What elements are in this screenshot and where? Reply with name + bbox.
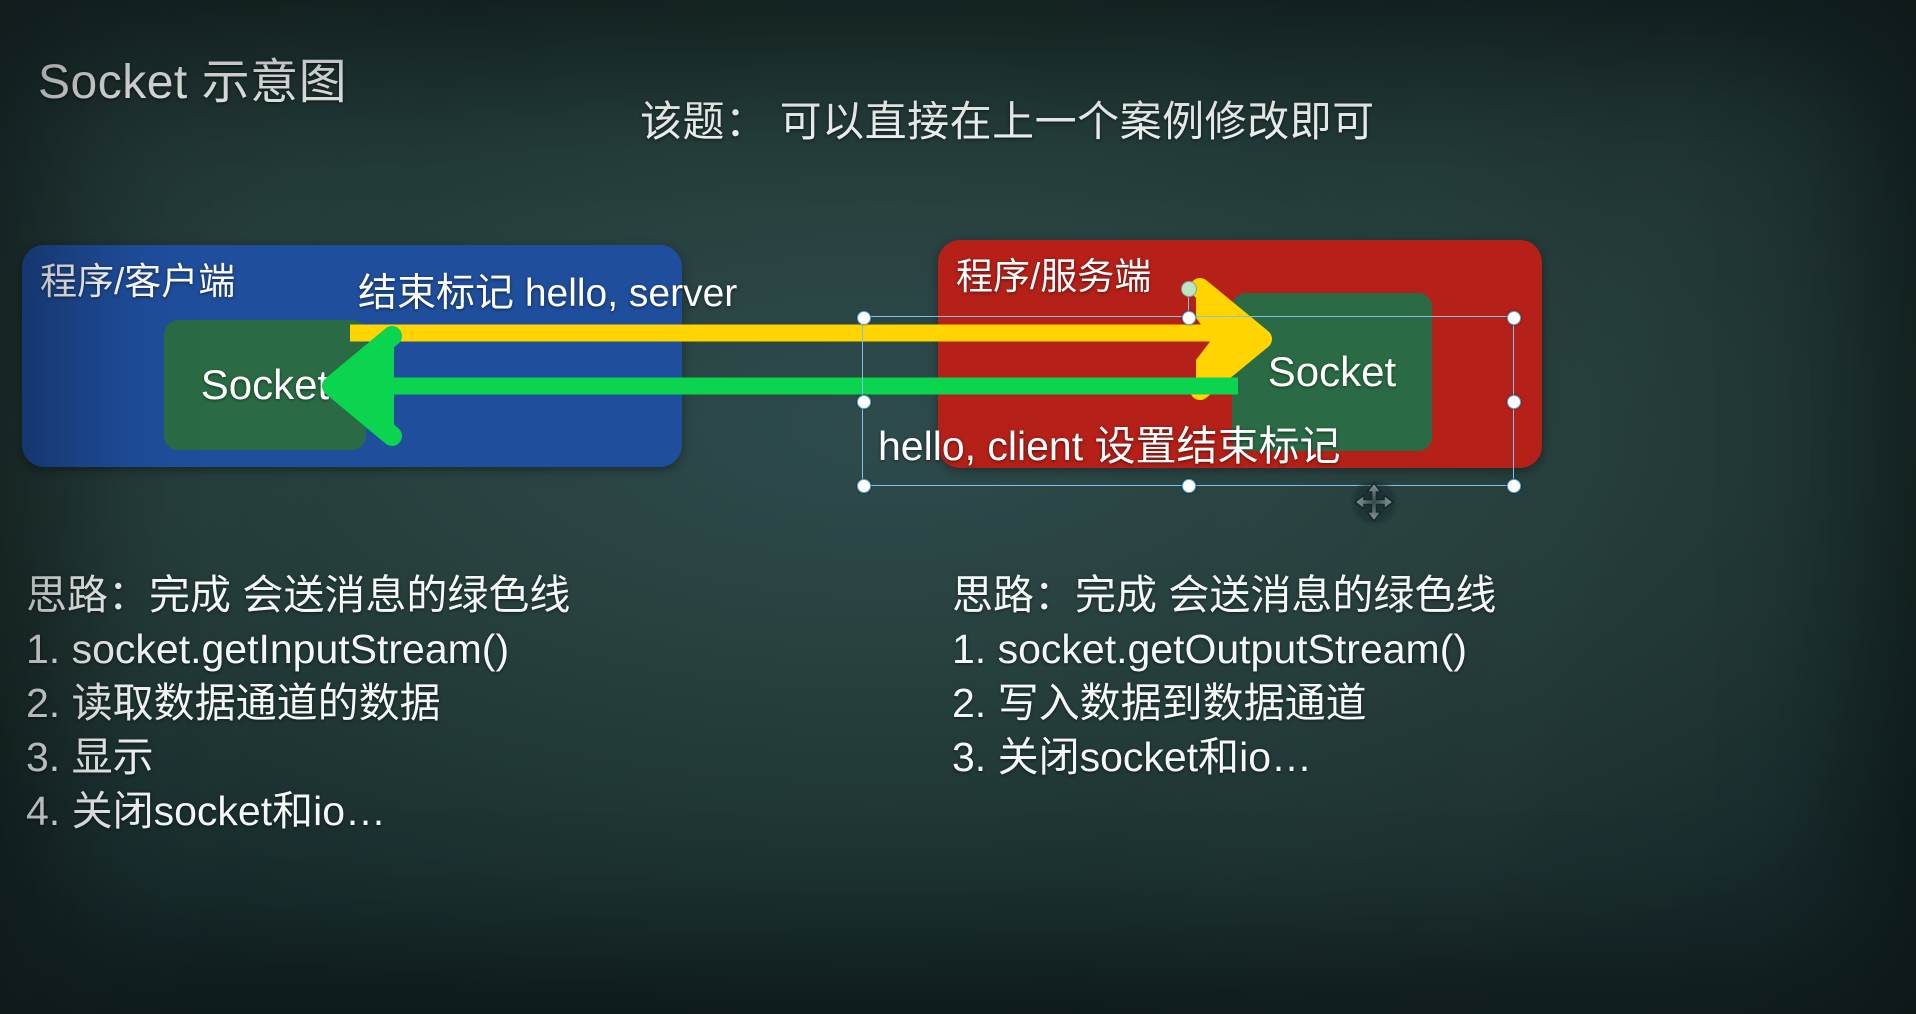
notes-client-step-3: 3. 显示	[26, 730, 570, 784]
arrow-overlay	[0, 0, 1916, 1014]
cursor-glow	[1350, 478, 1398, 526]
notes-client-step-4: 4. 关闭socket和io…	[26, 784, 570, 838]
notes-server-step-3: 3. 关闭socket和io…	[952, 730, 1496, 784]
notes-server-step-1: 1. socket.getOutputStream()	[952, 622, 1496, 676]
notes-server-heading: 思路：完成 会送消息的绿色线	[952, 568, 1496, 622]
rotate-handle[interactable]	[1181, 281, 1197, 297]
slide-canvas: Socket 示意图 该题： 可以直接在上一个案例修改即可 程序/客户端 程序/…	[0, 0, 1916, 1014]
notes-client-column: 思路：完成 会送消息的绿色线 1. socket.getInputStream(…	[26, 568, 570, 839]
move-cursor	[1350, 478, 1398, 526]
textbox-selection-frame[interactable]	[862, 316, 1514, 486]
notes-server-step-2: 2. 写入数据到数据通道	[952, 676, 1496, 730]
resize-handle-middle-right[interactable]	[1507, 395, 1521, 409]
resize-handle-bottom-left[interactable]	[857, 479, 871, 493]
resize-handle-top-right[interactable]	[1507, 311, 1521, 325]
resize-handle-bottom-right[interactable]	[1507, 479, 1521, 493]
arrow-label-client-to-server[interactable]: 结束标记 hello, server	[358, 262, 737, 318]
notes-client-step-1: 1. socket.getInputStream()	[26, 622, 570, 676]
resize-handle-top-left[interactable]	[857, 311, 871, 325]
notes-server-column: 思路：完成 会送消息的绿色线 1. socket.getOutputStream…	[952, 568, 1496, 784]
resize-handle-bottom-center[interactable]	[1182, 479, 1196, 493]
notes-client-step-2: 2. 读取数据通道的数据	[26, 676, 570, 730]
resize-handle-middle-left[interactable]	[857, 395, 871, 409]
resize-handle-top-center[interactable]	[1182, 311, 1196, 325]
notes-client-heading: 思路：完成 会送消息的绿色线	[26, 568, 570, 622]
